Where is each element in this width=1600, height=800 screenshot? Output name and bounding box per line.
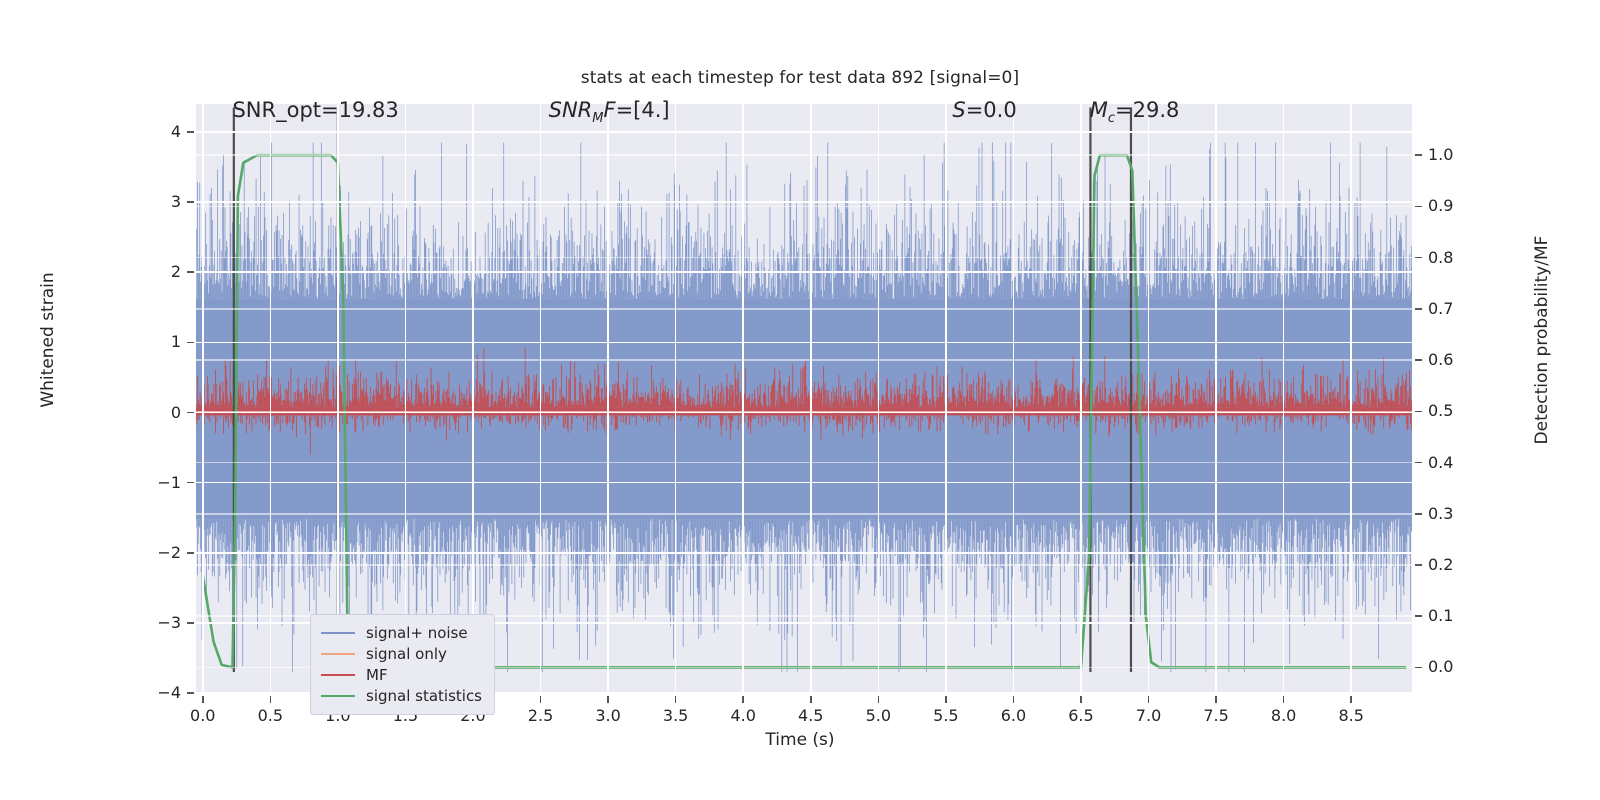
legend-label: MF <box>366 666 388 684</box>
tick-mark <box>1415 564 1422 566</box>
x-tick: 4.5 <box>798 706 823 725</box>
gridline-vertical <box>540 104 542 693</box>
y-tick-left: −1 <box>157 473 181 492</box>
tick-mark <box>187 131 194 133</box>
tick-mark <box>187 482 194 484</box>
gridline-vertical <box>675 104 677 693</box>
tick-mark <box>810 696 812 703</box>
legend-swatch-icon <box>321 674 355 676</box>
gridline-vertical <box>878 104 880 693</box>
tick-mark <box>1415 154 1422 156</box>
gridline-horizontal <box>196 271 1412 273</box>
y-tick-right: 1.0 <box>1428 145 1453 164</box>
tick-mark <box>945 696 947 703</box>
x-tick: 0.5 <box>258 706 283 725</box>
plot-area <box>196 104 1412 693</box>
legend-label: signal only <box>366 645 447 663</box>
tick-mark <box>1415 513 1422 515</box>
y-tick-right: 0.4 <box>1428 453 1453 472</box>
legend-swatch-icon <box>321 653 355 655</box>
x-tick: 6.5 <box>1068 706 1093 725</box>
tick-mark <box>187 201 194 203</box>
gridline-horizontal-secondary <box>196 359 1412 361</box>
annotation-snr-mf: SNRMF=[4.] <box>549 98 670 126</box>
legend[interactable]: signal+ noisesignal onlyMFsignal statist… <box>310 614 495 715</box>
annotation-s-stat: S=0.0 <box>952 98 1016 122</box>
tick-mark <box>187 622 194 624</box>
tick-mark <box>1415 257 1422 259</box>
gridline-vertical <box>270 104 272 693</box>
y-tick-left: −3 <box>157 613 181 632</box>
y-tick-right: 0.7 <box>1428 299 1453 318</box>
gridline-vertical <box>810 104 812 693</box>
x-tick: 7.0 <box>1136 706 1161 725</box>
gridline-horizontal <box>196 482 1412 484</box>
x-tick: 0.0 <box>190 706 215 725</box>
y-tick-left: 2 <box>171 262 181 281</box>
x-tick: 8.0 <box>1271 706 1296 725</box>
gridline-horizontal-secondary <box>196 206 1412 208</box>
legend-item-signal-statistics[interactable]: signal statistics <box>321 685 484 706</box>
gridline-horizontal <box>196 201 1412 203</box>
y-tick-right: 0.5 <box>1428 401 1453 420</box>
gridline-horizontal-secondary <box>196 257 1412 259</box>
gridline-vertical <box>1215 104 1217 693</box>
tick-mark <box>540 696 542 703</box>
tick-mark <box>1080 696 1082 703</box>
tick-mark <box>1350 696 1352 703</box>
annotation-snr-opt: SNR_opt=19.83 <box>232 98 398 122</box>
legend-item-mf[interactable]: MF <box>321 664 484 685</box>
tick-mark <box>1148 696 1150 703</box>
legend-swatch-icon <box>321 632 355 634</box>
tick-mark <box>202 696 204 703</box>
gridline-horizontal-secondary <box>196 462 1412 464</box>
gridline-vertical <box>945 104 947 693</box>
tick-mark <box>187 692 194 694</box>
y-tick-right: 0.0 <box>1428 657 1453 676</box>
gridline-horizontal <box>196 552 1412 554</box>
legend-label: signal+ noise <box>366 624 468 642</box>
x-tick: 5.5 <box>933 706 958 725</box>
gridline-horizontal-secondary <box>196 564 1412 566</box>
y-tick-left: 4 <box>171 122 181 141</box>
y-tick-left: −2 <box>157 543 181 562</box>
gridline-horizontal <box>196 342 1412 344</box>
y-tick-left: −4 <box>157 683 181 702</box>
gridline-vertical <box>607 104 609 693</box>
y-axis-label-left: Whitened strain <box>38 210 58 470</box>
legend-label: signal statistics <box>366 687 482 705</box>
tick-mark <box>1283 696 1285 703</box>
y-tick-right: 0.9 <box>1428 196 1453 215</box>
tick-mark <box>1415 615 1422 617</box>
tick-mark <box>1415 462 1422 464</box>
tick-mark <box>1415 308 1422 310</box>
gridline-vertical <box>1350 104 1352 693</box>
x-tick: 5.0 <box>866 706 891 725</box>
x-tick: 4.0 <box>730 706 755 725</box>
tick-mark <box>1415 206 1422 208</box>
data-canvas <box>196 104 1412 693</box>
y-tick-left: 0 <box>171 403 181 422</box>
tick-mark <box>607 696 609 703</box>
gridline-vertical <box>472 104 474 693</box>
x-tick: 6.0 <box>1001 706 1026 725</box>
gridline-horizontal-secondary <box>196 411 1412 413</box>
tick-mark <box>878 696 880 703</box>
gridline-horizontal-secondary <box>196 154 1412 156</box>
y-axis-label-right: Detection probability/MF <box>1532 170 1552 510</box>
gridline-vertical <box>1080 104 1082 693</box>
legend-item-signal-only[interactable]: signal only <box>321 643 484 664</box>
y-tick-right: 0.1 <box>1428 606 1453 625</box>
tick-mark <box>270 696 272 703</box>
y-tick-right: 0.3 <box>1428 504 1453 523</box>
gridline-vertical <box>1148 104 1150 693</box>
gridline-vertical <box>202 104 204 693</box>
tick-mark <box>1415 359 1422 361</box>
gridline-horizontal-secondary <box>196 513 1412 515</box>
y-tick-left: 1 <box>171 332 181 351</box>
gridline-vertical <box>742 104 744 693</box>
tick-mark <box>1415 411 1422 413</box>
gridline-horizontal <box>196 131 1412 133</box>
tick-mark <box>187 412 194 414</box>
annotation-mchirp: Mc=29.8 <box>1090 98 1180 126</box>
x-tick: 2.5 <box>528 706 553 725</box>
gridline-horizontal-secondary <box>196 308 1412 310</box>
tick-mark <box>1215 696 1217 703</box>
y-tick-right: 0.8 <box>1428 248 1453 267</box>
legend-item-signal-noise[interactable]: signal+ noise <box>321 622 484 643</box>
x-axis-label: Time (s) <box>0 730 1600 750</box>
tick-mark <box>1013 696 1015 703</box>
gridline-vertical <box>1013 104 1015 693</box>
y-tick-left: 3 <box>171 192 181 211</box>
gridline-vertical <box>337 104 339 693</box>
chart-title: stats at each timestep for test data 892… <box>0 68 1600 88</box>
gridline-vertical <box>1283 104 1285 693</box>
tick-mark <box>675 696 677 703</box>
tick-mark <box>1415 667 1422 669</box>
tick-mark <box>187 552 194 554</box>
x-tick: 3.0 <box>595 706 620 725</box>
tick-mark <box>187 342 194 344</box>
x-tick: 7.5 <box>1203 706 1228 725</box>
figure-root: stats at each timestep for test data 892… <box>0 0 1600 800</box>
y-tick-right: 0.2 <box>1428 555 1453 574</box>
x-tick: 3.5 <box>663 706 688 725</box>
gridline-vertical <box>405 104 407 693</box>
tick-mark <box>187 271 194 273</box>
x-tick: 8.5 <box>1338 706 1363 725</box>
tick-mark <box>742 696 744 703</box>
legend-swatch-icon <box>321 695 355 697</box>
y-tick-right: 0.6 <box>1428 350 1453 369</box>
